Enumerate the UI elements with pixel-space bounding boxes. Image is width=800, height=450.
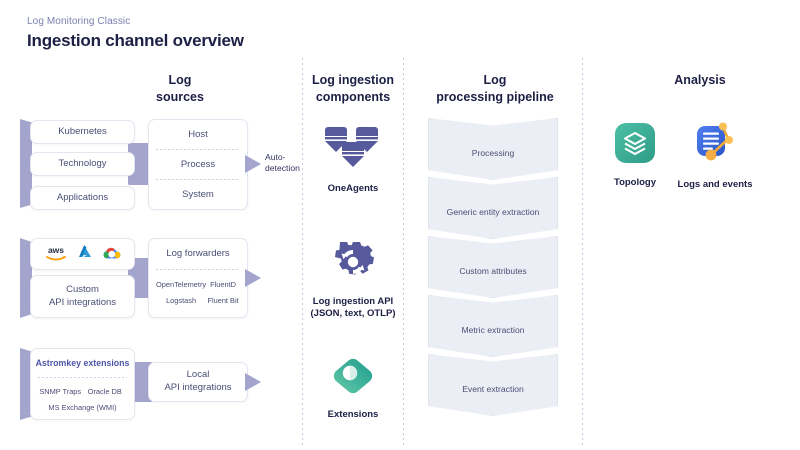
source-card-label: Applications: [57, 192, 108, 205]
ingestion-component-caption: Log ingestion API: [303, 296, 403, 308]
source-subitem-process: Process: [149, 150, 247, 179]
google-cloud-logo-icon: [102, 244, 122, 265]
logs-and-events-icon: [692, 120, 738, 166]
list-item: MS Exchange (WMI): [38, 403, 127, 412]
analysis-item-caption: Logs and events: [660, 179, 770, 190]
source-card-applications[interactable]: Applications: [30, 186, 135, 210]
source-card-label: Kubernetes: [58, 126, 107, 139]
pipeline-stage-event-extraction[interactable]: Event extraction: [428, 354, 558, 416]
column-heading-log-sources: Log sources: [100, 72, 260, 106]
column-heading-analysis: Analysis: [630, 72, 770, 89]
source-card-local-api-integrations[interactable]: Local API integrations: [148, 362, 248, 402]
auto-detection-arrow-icon: [245, 155, 261, 173]
log-forwarders-list: OpenTelemetry FluentD Logstash Fluent Bi…: [149, 280, 247, 305]
aws-logo-icon: aws: [44, 244, 68, 265]
card-separator: [156, 269, 240, 270]
ingestion-component-oneagents[interactable]: OneAgents: [303, 125, 403, 195]
topology-layers-icon: [614, 122, 656, 164]
ingestion-component-extensions[interactable]: Extensions: [303, 355, 403, 421]
ingestion-component-caption-sub: (JSON, text, OTLP): [303, 308, 403, 320]
pipeline-stage-label: Generic entity extraction: [447, 207, 540, 217]
source-subitem-system: System: [149, 180, 247, 209]
list-item: Oracle DB: [83, 387, 128, 396]
source-card-label: API integrations: [164, 382, 231, 395]
log-forwarders-arrow-icon: [245, 269, 261, 287]
astromkey-extensions-title: Astromkey extensions: [36, 358, 130, 370]
pipeline-stage-generic-entity-extraction[interactable]: Generic entity extraction: [428, 177, 558, 239]
source-card-label: Technology: [58, 158, 106, 171]
source-card-astromkey-extensions[interactable]: Astromkey extensions SNMP Traps Oracle D…: [30, 348, 135, 420]
pipeline-stage-label: Processing: [472, 148, 515, 158]
pipeline-stage-metric-extraction[interactable]: Metric extraction: [428, 295, 558, 357]
list-item: FluentD: [206, 280, 240, 289]
source-card-custom-api-integrations[interactable]: Custom API integrations: [30, 275, 135, 318]
ingestion-component-caption: OneAgents: [303, 183, 403, 195]
extension-items-list: SNMP Traps Oracle DB MS Exchange (WMI): [31, 387, 134, 412]
list-item: OpenTelemetry: [156, 280, 206, 289]
page-title: Ingestion channel overview: [27, 31, 244, 51]
source-card-technology[interactable]: Technology: [30, 152, 135, 176]
column-divider-2: [403, 58, 404, 446]
source-card-cloud-providers[interactable]: aws: [30, 238, 135, 270]
extensions-icon: [331, 355, 375, 397]
gear-sync-icon: [329, 238, 377, 284]
local-api-arrow-icon: [245, 373, 261, 391]
pipeline-stage-label: Custom attributes: [459, 266, 526, 276]
oneagents-icon: [322, 125, 384, 171]
list-item: Logstash: [156, 296, 206, 305]
source-card-label: Local: [187, 369, 210, 382]
svg-text:aws: aws: [47, 245, 63, 255]
source-card-host-process-system[interactable]: Host Process System: [148, 119, 248, 210]
analysis-item-logs-and-events[interactable]: Logs and events: [660, 120, 770, 190]
source-card-log-forwarders[interactable]: Log forwarders OpenTelemetry FluentD Log…: [148, 238, 248, 318]
source-card-kubernetes[interactable]: Kubernetes: [30, 120, 135, 144]
diagram-canvas: Log Monitoring Classic Ingestion channel…: [0, 0, 800, 450]
list-item: Fluent Bit: [206, 296, 240, 305]
source-card-label: Custom: [66, 284, 99, 297]
source-card-label: API integrations: [49, 297, 116, 310]
pipeline-stage-label: Metric extraction: [461, 325, 524, 335]
azure-logo-icon: [77, 244, 93, 265]
breadcrumb-eyebrow: Log Monitoring Classic: [27, 16, 130, 27]
card-separator: [38, 377, 127, 378]
column-heading-log-ingestion-components: Log ingestion components: [303, 72, 403, 106]
column-heading-log-processing-pipeline: Log processing pipeline: [420, 72, 570, 106]
pipeline-stage-processing[interactable]: Processing: [428, 118, 558, 180]
list-item: SNMP Traps: [38, 387, 83, 396]
source-subitem-host: Host: [149, 120, 247, 149]
log-forwarders-title: Log forwarders: [166, 248, 229, 261]
pipeline-stage-custom-attributes[interactable]: Custom attributes: [428, 236, 558, 298]
auto-detection-label: Auto- detection: [265, 152, 300, 174]
column-divider-3: [582, 58, 583, 446]
ingestion-component-caption: Extensions: [303, 409, 403, 421]
ingestion-component-log-ingestion-api[interactable]: Log ingestion API (JSON, text, OTLP): [303, 238, 403, 321]
pipeline-stage-label: Event extraction: [462, 384, 524, 394]
